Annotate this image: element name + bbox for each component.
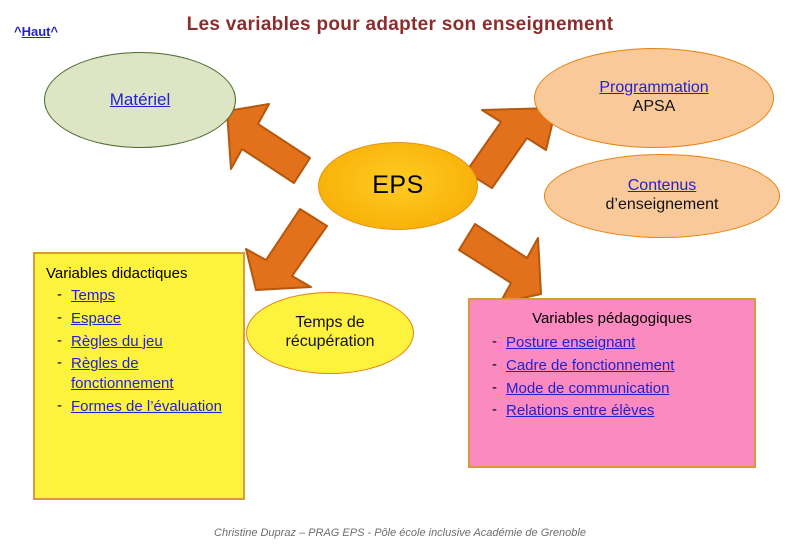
list-item[interactable]: - Règles du jeu	[57, 332, 243, 352]
pedagogiques-item-mode-de-communication[interactable]: Mode de communication	[506, 379, 669, 399]
pedagogiques-item-relations-entre-eleves[interactable]: Relations entre élèves	[506, 401, 654, 421]
haut-anchor-link[interactable]: ^Haut^	[14, 24, 58, 39]
bullet-dash: -	[57, 309, 71, 326]
panel-pedagogiques-title: Variables pédagogiques	[470, 310, 754, 327]
node-programmation-apsa[interactable]: Programmation APSA	[534, 48, 774, 148]
haut-caret-left: ^	[14, 24, 22, 39]
bullet-dash: -	[57, 286, 71, 303]
arrow-to-didactiques-icon	[246, 209, 327, 290]
panel-variables-pedagogiques: Variables pédagogiques - Posture enseign…	[468, 298, 756, 468]
bullet-dash: -	[492, 379, 506, 396]
arrow-to-programmation-icon	[466, 108, 556, 188]
list-item[interactable]: - Cadre de fonctionnement	[492, 356, 754, 376]
programmation-link[interactable]: Programmation	[599, 79, 708, 98]
panel-pedagogiques-list: - Posture enseignant - Cadre de fonction…	[492, 333, 754, 421]
pedagogiques-item-posture-enseignant[interactable]: Posture enseignant	[506, 333, 635, 353]
didactiques-item-espace[interactable]: Espace	[71, 309, 121, 329]
list-item[interactable]: - Formes de l’évaluation	[57, 397, 243, 417]
programmation-subtitle: APSA	[633, 98, 676, 117]
list-item[interactable]: - Relations entre élèves	[492, 401, 754, 421]
recuperation-line1: Temps de	[295, 314, 364, 333]
didactiques-item-regles-du-jeu[interactable]: Règles du jeu	[71, 332, 163, 352]
node-materiel[interactable]: Matériel	[44, 52, 236, 148]
footer-credit: Christine Dupraz – PRAG EPS - Pôle école…	[0, 527, 800, 539]
recuperation-line2: récupération	[286, 333, 375, 352]
page-title: Les variables pour adapter son enseignem…	[150, 14, 650, 36]
list-item[interactable]: - Temps	[57, 286, 243, 306]
bullet-dash: -	[492, 401, 506, 418]
slide-canvas: ^Haut^ Les variables pour adapter son en…	[0, 0, 800, 560]
bullet-dash: -	[57, 332, 71, 349]
haut-link-label: Haut	[22, 24, 51, 39]
list-item[interactable]: - Règles de fonctionnement	[57, 354, 243, 394]
bullet-dash: -	[57, 397, 71, 414]
node-temps-recuperation: Temps de récupération	[246, 292, 414, 374]
contenus-link[interactable]: Contenus	[628, 177, 697, 196]
panel-didactiques-list: - Temps - Espace - Règles du jeu - Règle…	[57, 286, 243, 417]
list-item[interactable]: - Posture enseignant	[492, 333, 754, 353]
bullet-dash: -	[492, 333, 506, 350]
eps-label: EPS	[372, 171, 424, 201]
contenus-subtitle: d’enseignement	[606, 196, 719, 215]
didactiques-item-formes-de-levaluation[interactable]: Formes de l’évaluation	[71, 397, 222, 417]
pedagogiques-item-cadre-de-fonctionnement[interactable]: Cadre de fonctionnement	[506, 356, 674, 376]
arrow-to-pedagogiques-icon	[459, 224, 541, 303]
arrow-to-materiel-icon	[227, 104, 310, 183]
materiel-link[interactable]: Matériel	[110, 90, 170, 110]
panel-variables-didactiques: Variables didactiques - Temps - Espace -…	[33, 252, 245, 500]
node-contenus-enseignement[interactable]: Contenus d’enseignement	[544, 154, 780, 238]
didactiques-item-temps[interactable]: Temps	[71, 286, 115, 306]
bullet-dash: -	[492, 356, 506, 373]
node-eps-center: EPS	[318, 142, 478, 230]
bullet-dash: -	[57, 354, 71, 371]
didactiques-item-regles-de-fonctionnement[interactable]: Règles de fonctionnement	[71, 354, 243, 394]
haut-caret-right: ^	[50, 24, 58, 39]
panel-didactiques-title: Variables didactiques	[46, 265, 243, 282]
list-item[interactable]: - Mode de communication	[492, 379, 754, 399]
list-item[interactable]: - Espace	[57, 309, 243, 329]
